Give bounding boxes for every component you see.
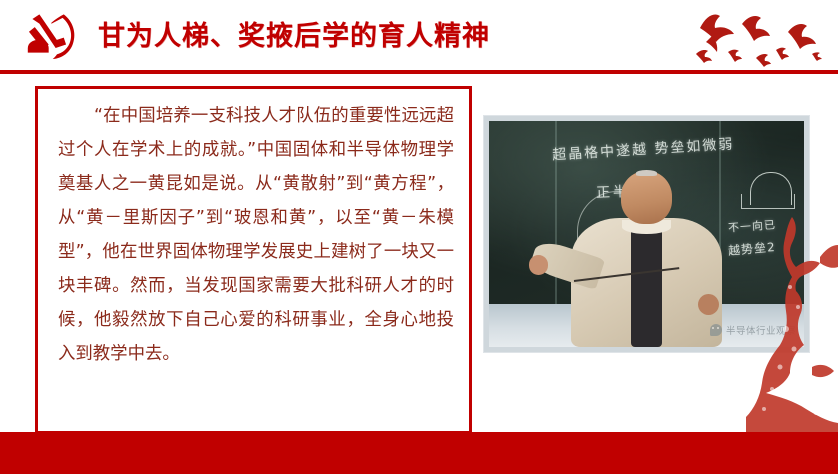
blackboard-text-line1: 超晶格中遂越 势垒如微弱 [552,134,735,165]
body-paragraph-text: “在中国培养一支科技人才队伍的重要性远远超过个人在学术上的成就。”中国固体和半导… [58,106,454,364]
red-papercut-monument-decoration-icon [746,217,838,432]
lecturer-head [621,171,672,224]
chalk-diagram-box [741,194,795,209]
lecturer-hair [636,170,657,176]
flying-birds-decoration-icon [682,6,824,68]
header-divider [0,70,838,74]
wechat-icon [710,324,722,336]
lecturer-left-hand [529,255,549,274]
lecturer-figure [571,171,722,347]
lecturer-vest [631,227,661,347]
slide-root: 甘为人梯、奖掖后学的育人精神 “在中国培养一支科技人才队伍的重 [0,0,838,474]
quote-textbox: “在中国培养一支科技人才队伍的重要性远远超过个人在学术上的成就。”中国固体和半导… [35,86,472,434]
footer-bar [0,432,838,474]
page-title: 甘为人梯、奖掖后学的育人精神 [98,16,490,56]
body-paragraph: “在中国培养一支科技人才队伍的重要性远远超过个人在学术上的成就。”中国固体和半导… [58,99,454,371]
cpc-hammer-sickle-emblem-icon [22,12,80,62]
slide-header: 甘为人梯、奖掖后学的育人精神 [0,0,838,72]
